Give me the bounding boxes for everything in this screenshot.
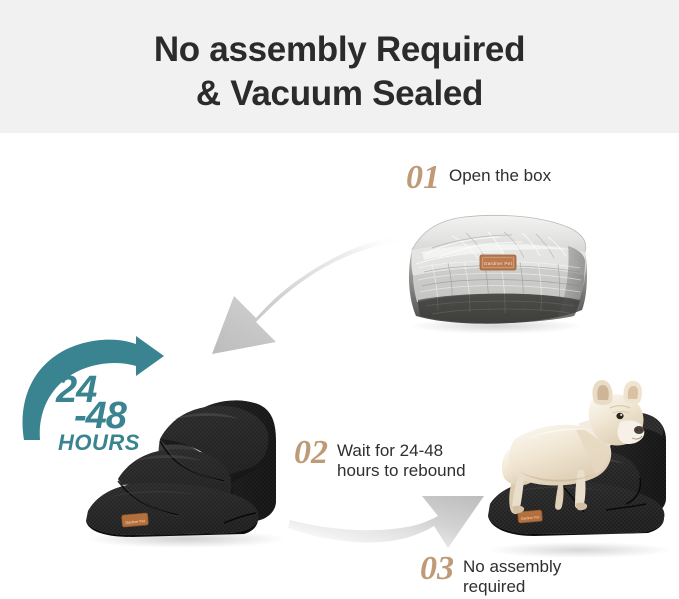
step-01-number: 01 <box>406 161 440 195</box>
package-brand-tag: Gardner Pet <box>480 255 516 270</box>
vacuum-sealed-package-illustration: Gardner Pet <box>392 206 598 334</box>
step-02: 02 Wait for 24-48 hours to rebound <box>294 436 466 481</box>
step-02-number: 02 <box>294 436 328 470</box>
pet-stairs-left-illustration: Gardner Pet <box>74 383 294 551</box>
step-01: 01 Open the box <box>406 161 551 195</box>
arrow-box-to-stairs <box>168 232 404 358</box>
step-01-label: Open the box <box>449 161 551 186</box>
step-03: 03 No assembly required <box>420 552 561 597</box>
step-03-number: 03 <box>420 552 454 586</box>
pet-stairs-with-dog-illustration: Gardner Pet <box>480 378 679 560</box>
page-title: No assembly Required & Vacuum Sealed <box>0 28 679 116</box>
svg-text:Gardner Pet: Gardner Pet <box>484 261 513 266</box>
step-02-label: Wait for 24-48 hours to rebound <box>337 436 466 481</box>
stairs-left-brand-tag: Gardner Pet <box>122 513 149 527</box>
step-03-label: No assembly required <box>463 552 561 597</box>
infographic-canvas: No assembly Required & Vacuum Sealed 01 … <box>0 0 679 599</box>
